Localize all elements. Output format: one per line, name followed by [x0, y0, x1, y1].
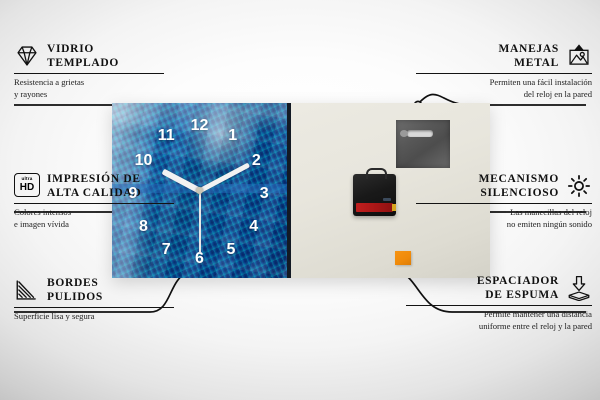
callout-description: Resistencia a grietas y rayones	[14, 77, 164, 100]
callout-manejas-metal: MANEJAS METAL Permiten una fácil instala…	[416, 42, 592, 100]
callout-espaciador-espuma: ESPACIADOR DE ESPUMA Permite mantener un…	[406, 274, 592, 332]
callout-bordes-pulidos: BORDES PULIDOS Superficie lisa y segura	[14, 276, 174, 323]
callout-title: ESPACIADOR DE ESPUMA	[477, 274, 559, 302]
mechanism-hanger-loop	[366, 168, 387, 179]
foam-spacer-arrow-icon	[566, 275, 592, 301]
clock-second-hand	[199, 191, 201, 253]
callout-title: BORDES PULIDOS	[47, 276, 103, 304]
metal-hanger-plate	[396, 120, 450, 168]
ultra-hd-icon: ultra HD	[14, 173, 40, 199]
ultra-hd-large-label: HD	[20, 183, 34, 193]
polished-edges-icon	[14, 277, 40, 303]
clock-numeral-2: 2	[252, 153, 261, 169]
callout-rule	[416, 73, 592, 74]
gear-icon	[566, 173, 592, 199]
foam-spacer-pad	[395, 251, 411, 265]
clock-numeral-12: 12	[191, 118, 209, 134]
clock-numeral-4: 4	[249, 219, 258, 235]
clock-numeral-5: 5	[227, 242, 236, 258]
hanger-keyhole-slot	[407, 130, 433, 137]
clock-numeral-7: 7	[162, 242, 171, 258]
clock-mechanism-box	[353, 174, 396, 216]
callout-impresion-alta-calidad: ultra HD IMPRESIÓN DE ALTA CALIDAD Color…	[14, 172, 174, 230]
mechanism-battery	[356, 203, 393, 212]
clock-numeral-3: 3	[260, 186, 269, 202]
infographic-stage: 12 1 2 3 4 5 6 7 8 9 10 11	[0, 0, 600, 400]
callout-description: Permite mantener una distancia uniforme …	[406, 309, 592, 332]
callout-title: MECANISMO SILENCIOSO	[479, 172, 559, 200]
clock-minute-hand	[198, 162, 250, 193]
clock-center-cap	[196, 187, 203, 194]
clock-numeral-6: 6	[195, 251, 204, 267]
clock-numeral-8: 8	[139, 219, 148, 235]
callout-rule	[14, 307, 174, 308]
clock-numeral-9: 9	[129, 186, 138, 202]
framed-picture-hook-icon	[566, 43, 592, 69]
callout-description: Superficie lisa y segura	[14, 311, 174, 322]
callout-title: IMPRESIÓN DE ALTA CALIDAD	[47, 172, 141, 200]
mechanism-detail	[383, 198, 391, 201]
clock-numeral-10: 10	[135, 153, 153, 169]
callout-rule	[416, 203, 592, 204]
diamond-icon	[14, 43, 40, 69]
callout-description: Permiten una fácil instalación del reloj…	[416, 77, 592, 100]
callout-description: Las manecillas del reloj no emiten ningú…	[416, 207, 592, 230]
callout-mecanismo-silencioso: MECANISMO SILENCIOSO Las manecillas del …	[416, 172, 592, 230]
callout-vidrio-templado: VIDRIO TEMPLADO Resistencia a grietas y …	[14, 42, 164, 100]
callout-rule	[14, 73, 164, 74]
callout-rule	[14, 203, 174, 204]
clock-numeral-1: 1	[228, 128, 237, 144]
callout-description: Colores intensos e imagen vívida	[14, 207, 174, 230]
clock-numeral-11: 11	[158, 128, 175, 144]
callout-rule	[406, 305, 592, 306]
callout-title: MANEJAS METAL	[499, 42, 560, 70]
callout-title: VIDRIO TEMPLADO	[47, 42, 119, 70]
